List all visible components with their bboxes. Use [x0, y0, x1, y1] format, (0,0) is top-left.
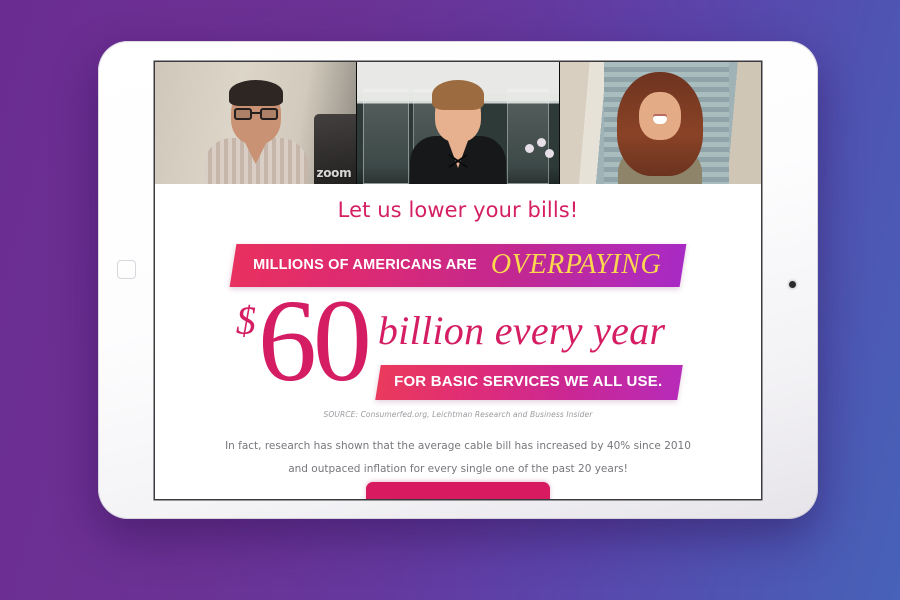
- cta-button[interactable]: [366, 482, 550, 499]
- front-camera-icon: [789, 281, 796, 288]
- video-tile-participant-1[interactable]: zoom: [155, 62, 357, 184]
- glasses-icon: [234, 108, 278, 120]
- ribbon-one-row: MILLIONS OF AMERICANS ARE OVERPAYING: [155, 222, 761, 287]
- home-button-icon[interactable]: [117, 260, 136, 279]
- video-tile-participant-3[interactable]: [560, 62, 761, 184]
- landing-page-content: Let us lower your bills! MILLIONS OF AME…: [155, 184, 761, 499]
- tablet-device: zoom: [98, 41, 818, 519]
- statistic-number-group: $ 60: [236, 293, 368, 390]
- overpaying-banner: MILLIONS OF AMERICANS ARE OVERPAYING: [229, 244, 686, 287]
- page-headline: Let us lower your bills!: [155, 198, 761, 222]
- tablet-screen: zoom: [155, 62, 761, 499]
- banner-emphasis-text: OVERPAYING: [491, 251, 661, 279]
- participant-hair: [229, 80, 283, 106]
- video-tile-participant-2[interactable]: [357, 62, 559, 184]
- office-glass-panel: [363, 88, 409, 184]
- participant-hair: [432, 80, 484, 110]
- flowers-decoration: [523, 138, 557, 178]
- body-paragraph: In fact, research has shown that the ave…: [223, 435, 693, 480]
- basic-services-banner: FOR BASIC SERVICES WE ALL USE.: [375, 365, 683, 400]
- zoom-watermark: zoom: [317, 166, 352, 180]
- statistic-right-column: billion every year FOR BASIC SERVICES WE…: [378, 311, 680, 400]
- big-statistic: $ 60 billion every year FOR BASIC SERVIC…: [155, 293, 761, 400]
- statistic-amount: 60: [258, 293, 368, 390]
- video-call-strip: zoom: [155, 62, 761, 184]
- statistic-suffix: billion every year: [378, 311, 680, 351]
- source-citation: SOURCE: Consumerfed.org, Leichtman Resea…: [155, 410, 761, 419]
- banner-text: FOR BASIC SERVICES WE ALL USE.: [394, 373, 662, 390]
- banner-lead-text: MILLIONS OF AMERICANS ARE: [253, 257, 477, 273]
- currency-symbol: $: [236, 305, 256, 338]
